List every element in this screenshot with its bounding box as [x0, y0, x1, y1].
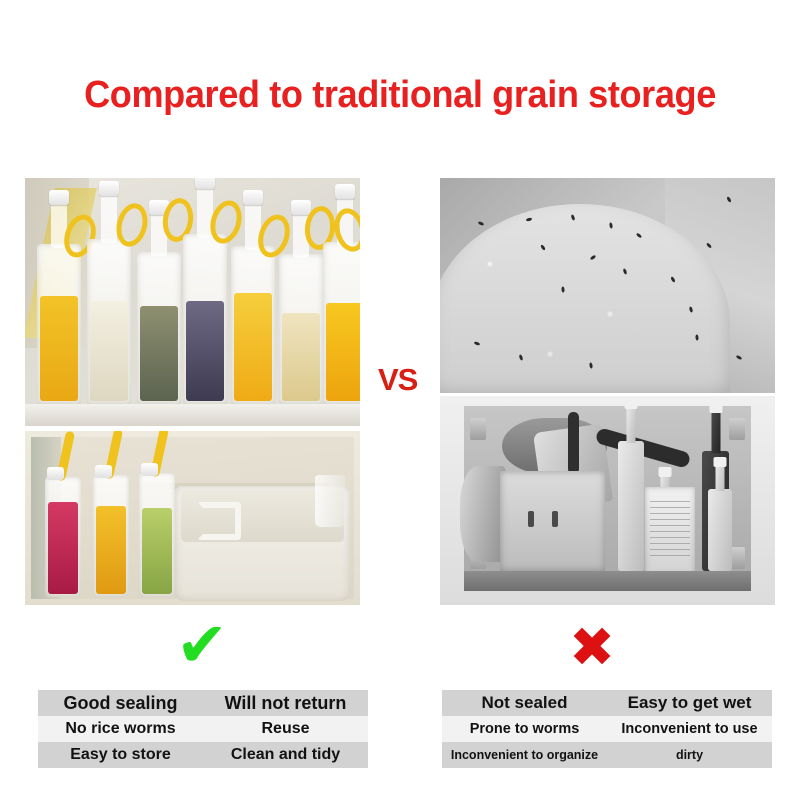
photo-good-shelf-bags	[25, 178, 360, 426]
photo-bad-rice-weevils	[440, 178, 775, 393]
shelf-surface	[25, 404, 360, 426]
table-row: Good sealing Will not return	[38, 690, 368, 716]
cross-mark-icon: ✖	[569, 620, 615, 675]
cardboard-box	[500, 471, 605, 571]
pan-handle	[568, 412, 579, 474]
sauce-bottle	[708, 489, 732, 571]
photo-bad-cluttered-cabinet	[440, 396, 775, 605]
grain-bag	[183, 234, 227, 404]
feature-cell: Prone to worms	[442, 721, 607, 737]
grain-bag	[137, 252, 181, 404]
table-row: Easy to store Clean and tidy	[38, 742, 368, 768]
feature-cell: dirty	[607, 748, 772, 762]
weevil-icon	[695, 334, 699, 340]
feature-cell: Inconvenient to organize	[442, 748, 607, 762]
grain-bag	[87, 239, 131, 404]
grain-bag	[37, 244, 81, 404]
weevil-icon	[561, 286, 565, 292]
feature-cell: Good sealing	[38, 693, 203, 714]
grain-bag	[323, 242, 360, 404]
measuring-cup	[315, 475, 345, 527]
table-row: No rice worms Reuse	[38, 716, 368, 742]
feature-cell: Clean and tidy	[203, 746, 368, 764]
glass-bottle	[618, 441, 644, 571]
feature-cell: Will not return	[203, 693, 368, 714]
good-features-table: Good sealing Will not return No rice wor…	[38, 690, 368, 768]
versus-label: VS	[378, 362, 417, 398]
feature-cell: No rice worms	[38, 720, 203, 738]
table-row: Prone to worms Inconvenient to use	[442, 716, 772, 742]
bad-features-table: Not sealed Easy to get wet Prone to worm…	[442, 690, 772, 768]
feature-cell: Reuse	[203, 720, 368, 738]
photo-good-cabinet-bags	[25, 431, 360, 605]
hinge-icon	[470, 418, 486, 440]
hinge-icon	[729, 418, 745, 440]
page-title: Compared to traditional grain storage	[20, 74, 780, 117]
hanging-bag	[93, 475, 129, 597]
feature-cell: Inconvenient to use	[607, 721, 772, 737]
check-mark-icon: ✔	[176, 614, 228, 676]
feature-cell: Not sealed	[442, 693, 607, 713]
feature-cell: Easy to get wet	[607, 693, 772, 713]
container-handle	[197, 502, 241, 540]
grain-bag	[279, 254, 323, 404]
table-row: Not sealed Easy to get wet	[442, 690, 772, 716]
hanging-bag	[45, 477, 81, 597]
grain-bag	[231, 246, 275, 404]
table-row: Inconvenient to organize dirty	[442, 742, 772, 768]
feature-cell: Easy to store	[38, 746, 203, 764]
cabinet-floor	[464, 571, 751, 591]
hanging-bag	[139, 473, 175, 597]
paper-carton	[645, 487, 695, 575]
